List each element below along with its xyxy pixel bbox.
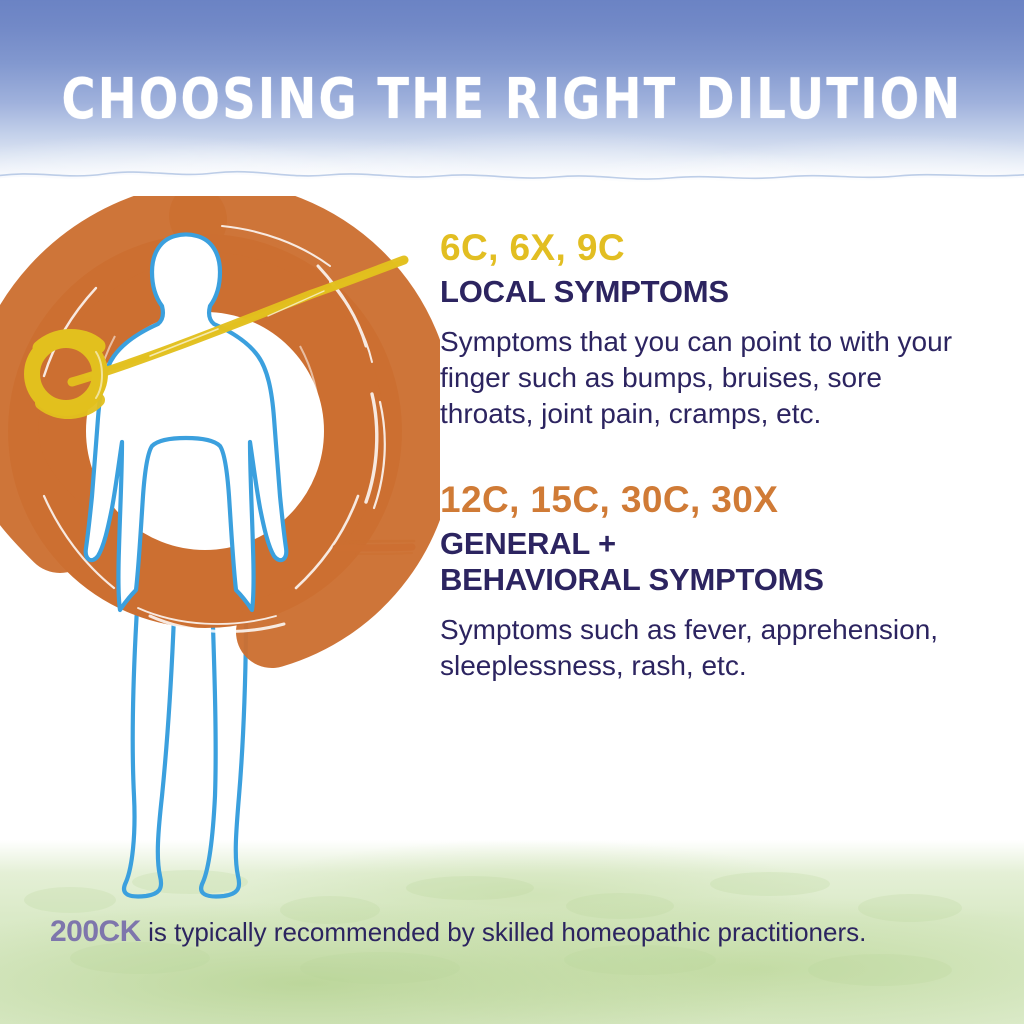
symptom-text-column: 6C, 6X, 9C LOCAL SYMPTOMS Symptoms that …	[440, 228, 1000, 684]
symptom-block-general: 12C, 15C, 30C, 30X GENERAL + BEHAVIORAL …	[440, 480, 1000, 684]
human-body-lower-legs	[124, 592, 246, 896]
header-band: CHOOSING THE RIGHT DILUTION	[0, 0, 1024, 186]
footer-note: 200CK is typically recommended by skille…	[50, 915, 1000, 949]
dilution-label-local: 6C, 6X, 9C	[440, 228, 1000, 268]
symptom-title-general: GENERAL + BEHAVIORAL SYMPTOMS	[440, 526, 1000, 598]
symptom-block-local: 6C, 6X, 9C LOCAL SYMPTOMS Symptoms that …	[440, 228, 1000, 432]
footer-potency-label: 200CK	[50, 915, 141, 948]
symptom-title-local: LOCAL SYMPTOMS	[440, 274, 1000, 310]
page-title: CHOOSING THE RIGHT DILUTION	[41, 70, 983, 130]
symptom-title-local-line-1: LOCAL SYMPTOMS	[440, 274, 1000, 310]
header-bottom-edge	[0, 150, 1024, 186]
symptom-title-general-line-1: GENERAL +	[440, 526, 1000, 562]
symptom-body-local: Symptoms that you can point to with your…	[440, 324, 970, 432]
symptom-body-general: Symptoms such as fever, apprehension, sl…	[440, 612, 970, 684]
dilution-label-general: 12C, 15C, 30C, 30X	[440, 480, 1000, 520]
body-and-ring-illustration	[0, 196, 440, 916]
infographic-canvas: CHOOSING THE RIGHT DILUTION	[0, 0, 1024, 1024]
footer-note-text: is typically recommended by skilled home…	[141, 917, 866, 947]
symptom-title-general-line-2: BEHAVIORAL SYMPTOMS	[440, 562, 1000, 598]
